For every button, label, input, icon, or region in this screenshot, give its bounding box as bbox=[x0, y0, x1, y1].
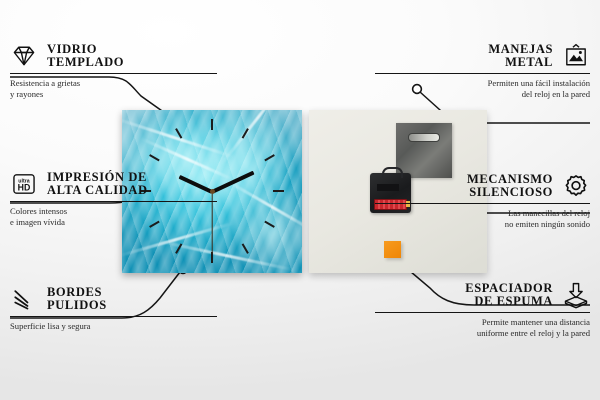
feature-description: Resistencia a grietas y rayones bbox=[10, 78, 225, 99]
ultra-hd-icon: ultra HD bbox=[10, 170, 38, 198]
feature-manejas-metal: MANEJAS METAL Permiten una fácil instala… bbox=[375, 42, 590, 100]
feature-divider bbox=[375, 73, 590, 74]
feature-description: Superficie lisa y segura bbox=[10, 321, 225, 332]
feature-divider bbox=[10, 201, 217, 202]
feature-title: BORDES PULIDOS bbox=[47, 286, 107, 313]
metal-hanger-plate bbox=[396, 123, 452, 178]
feature-vidrio-templado: VIDRIO TEMPLADO Resistencia a grietas y … bbox=[10, 42, 225, 100]
feature-description: Permite mantener una distancia uniforme … bbox=[375, 317, 590, 338]
feature-description: Colores intensos e imagen vívida bbox=[10, 206, 225, 227]
foam-spacer-arrow-icon bbox=[562, 281, 590, 309]
feature-divider bbox=[10, 73, 217, 74]
infographic-canvas: VIDRIO TEMPLADO Resistencia a grietas y … bbox=[0, 0, 600, 400]
diamond-icon bbox=[10, 42, 38, 70]
feature-espaciador-de-espuma: ESPACIADOR DE ESPUMA Permite mantener un… bbox=[375, 281, 590, 339]
feature-title: ESPACIADOR DE ESPUMA bbox=[465, 282, 553, 309]
feature-impresion-alta-calidad: ultra HD IMPRESIÓN DE ALTA CALIDAD Color… bbox=[10, 170, 225, 228]
polished-edges-icon bbox=[10, 285, 38, 313]
feature-mecanismo-silencioso: MECANISMO SILENCIOSO Las manecillas del … bbox=[375, 172, 590, 230]
feature-divider bbox=[375, 312, 590, 313]
foam-spacer bbox=[384, 241, 401, 258]
feature-description: Permiten una fácil instalación del reloj… bbox=[375, 78, 590, 99]
feature-divider bbox=[10, 316, 217, 317]
feature-bordes-pulidos: BORDES PULIDOS Superficie lisa y segura bbox=[10, 285, 225, 332]
wall-hanging-frame-icon bbox=[562, 42, 590, 70]
gear-icon bbox=[562, 172, 590, 200]
feature-description: Las manecillas del reloj no emiten ningú… bbox=[375, 208, 590, 229]
feature-title: MECANISMO SILENCIOSO bbox=[467, 173, 553, 200]
feature-divider bbox=[375, 203, 590, 204]
feature-title: IMPRESIÓN DE ALTA CALIDAD bbox=[47, 171, 148, 198]
hanger-keyhole-slot bbox=[408, 133, 440, 142]
svg-text:HD: HD bbox=[18, 183, 31, 193]
feature-title: MANEJAS METAL bbox=[488, 43, 553, 70]
feature-title: VIDRIO TEMPLADO bbox=[47, 43, 124, 70]
